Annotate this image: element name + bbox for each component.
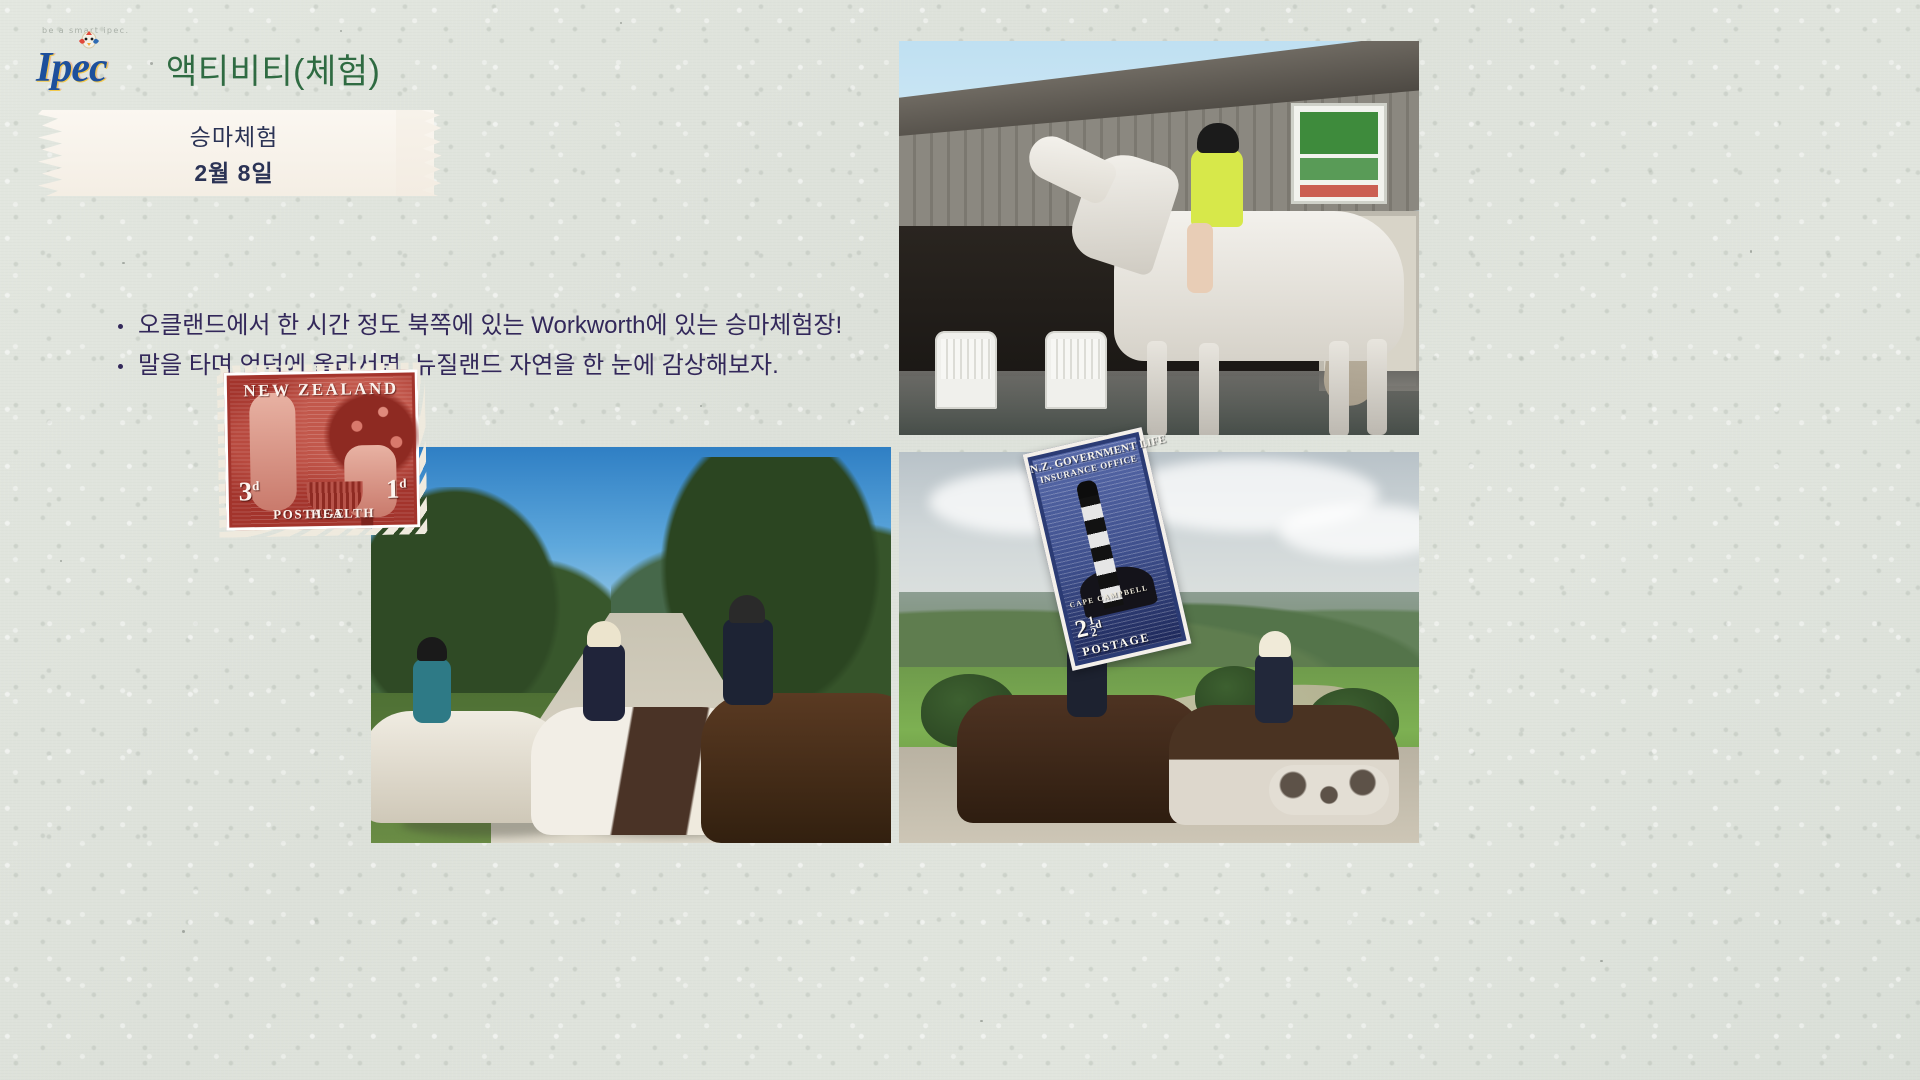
slide-canvas: be a smart ipec. Ipec 액티비티(체험) 승마체험 2월 8… [0,0,1920,1080]
stamp-health-label: HEALTH [311,505,375,522]
stamp-value-left: 3d [238,476,259,507]
photo-horse-leg [1367,339,1387,435]
washi-tape-text: 승마체험 2월 8일 [34,110,434,196]
page-title: 액티비티(체험) [166,44,380,93]
photo-horse-at-stable[interactable] [899,41,1419,435]
paper-speck [60,560,62,562]
photo-plastic-chair [1045,331,1107,409]
paper-speck [700,405,702,407]
logo-text: Ipec [36,45,107,91]
photo-trail-ride[interactable] [371,447,891,843]
stamp-artwork-area: NEW ZEALAND 3d POSTAGE HEALTH 1d [224,369,421,530]
photo-horse-leg [1329,341,1349,435]
photo-horse-leg [1147,341,1167,435]
photo-plastic-chair [935,331,997,409]
photo-rider-helmet [417,637,447,661]
photo-rider-torso [1255,653,1293,723]
paper-speck [980,1020,983,1022]
logo-wordmark: Ipec [36,47,156,89]
paper-speck [620,22,622,24]
paper-speck [182,930,185,933]
photo-rider-helmet [729,595,765,623]
photo-rider-vest [1191,149,1243,227]
bird-icon [76,29,102,51]
stamp-country-label: NEW ZEALAND [227,378,415,401]
photo-rider-torso [413,659,451,723]
tape-line-2: 2월 8일 [194,154,273,188]
paper-speck [1600,960,1603,962]
paper-speck [1750,250,1752,253]
photo-rider-helmet [587,621,621,647]
photo-stable-sign [1291,103,1387,204]
photo-rider-helmet [1259,631,1291,657]
photo-rider-torso [723,619,773,705]
photo-horse-leg [1199,343,1219,435]
paper-speck [122,262,125,264]
paper-speck [340,30,342,32]
ipec-logo[interactable]: be a smart ipec. Ipec [36,26,156,104]
tape-line-1: 승마체험 [190,118,279,152]
stamp-art-background: NEW ZEALAND 3d POSTAGE HEALTH 1d [224,369,421,530]
stamp-value-right: 1d [386,474,407,505]
photo-rider-leg [1187,223,1213,293]
photo-horse-bay [701,693,891,843]
photo-horse-appaloosa [1169,705,1399,825]
photo-rider-torso [583,643,625,721]
photo-rider-helmet [1197,123,1239,153]
new-zealand-health-stamp: NEW ZEALAND 3d POSTAGE HEALTH 1d [217,362,428,538]
